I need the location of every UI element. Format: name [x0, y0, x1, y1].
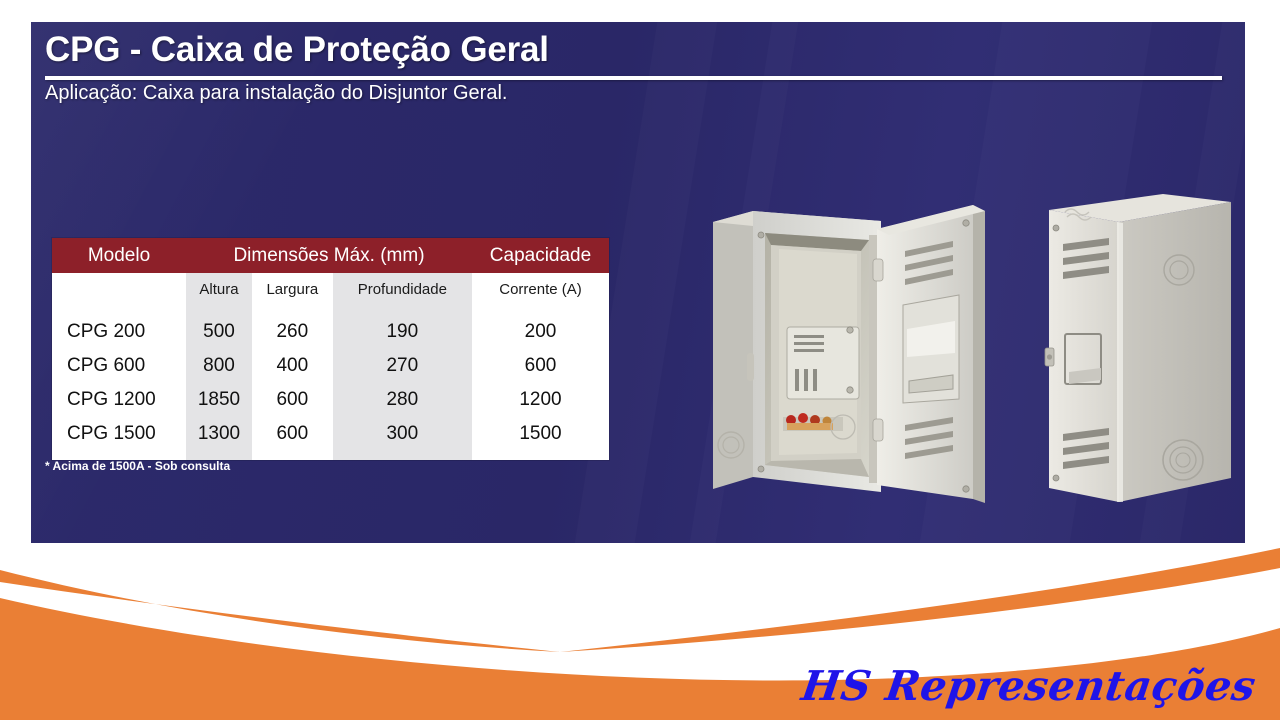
cell-profundidade: 270 [333, 349, 472, 383]
table-group-header-row: Modelo Dimensões Máx. (mm) Capacidade [52, 238, 609, 273]
header-modelo: Modelo [52, 238, 186, 273]
cell-corrente: 200 [472, 315, 609, 349]
cell-largura: 400 [252, 349, 333, 383]
cell-largura: 260 [252, 315, 333, 349]
cell-altura: 1300 [186, 417, 252, 451]
table-spacer-row [52, 307, 609, 315]
subheader-profundidade: Profundidade [333, 273, 472, 307]
table-row: CPG 1500 1300 600 300 1500 [52, 417, 609, 451]
header-dimensoes: Dimensões Máx. (mm) [186, 238, 472, 273]
header-capacidade: Capacidade [472, 238, 609, 273]
cell-largura: 600 [252, 417, 333, 451]
subheader-altura: Altura [186, 273, 252, 307]
cell-modelo: CPG 1500 [52, 417, 186, 451]
cell-altura: 800 [186, 349, 252, 383]
cell-profundidade: 280 [333, 383, 472, 417]
table-row: CPG 200 500 260 190 200 [52, 315, 609, 349]
cell-profundidade: 190 [333, 315, 472, 349]
cell-corrente: 600 [472, 349, 609, 383]
cell-modelo: CPG 200 [52, 315, 186, 349]
cell-modelo: CPG 600 [52, 349, 186, 383]
table-sub-header-row: Altura Largura Profundidade Corrente (A) [52, 273, 609, 307]
table-row: CPG 600 800 400 270 600 [52, 349, 609, 383]
specifications-table: Modelo Dimensões Máx. (mm) Capacidade Al… [52, 238, 609, 460]
cell-corrente: 1200 [472, 383, 609, 417]
cell-corrente: 1500 [472, 417, 609, 451]
subheader-largura: Largura [252, 273, 333, 307]
table-body: CPG 200 500 260 190 200 CPG 600 800 400 … [52, 315, 609, 460]
page-title: CPG - Caixa de Proteção Geral [45, 30, 549, 70]
subheader-corrente: Corrente (A) [472, 273, 609, 307]
page-subtitle: Aplicação: Caixa para instalação do Disj… [45, 82, 507, 105]
subheader-blank [52, 273, 186, 307]
cell-altura: 1850 [186, 383, 252, 417]
slide-root: CPG - Caixa de Proteção Geral Aplicação:… [0, 0, 1280, 720]
product-photo-open-box [691, 177, 1001, 522]
content-panel: CPG - Caixa de Proteção Geral Aplicação:… [31, 22, 1245, 543]
cell-profundidade: 300 [333, 417, 472, 451]
table-head: Modelo Dimensões Máx. (mm) Capacidade Al… [52, 238, 609, 315]
cell-altura: 500 [186, 315, 252, 349]
table-footnote: * Acima de 1500A - Sob consulta [45, 459, 230, 473]
product-photo-closed-box [1031, 172, 1245, 522]
cell-largura: 600 [252, 383, 333, 417]
title-underline [45, 76, 1222, 80]
brand-logo: HS Representações [799, 662, 1259, 710]
cell-modelo: CPG 1200 [52, 383, 186, 417]
table-row: CPG 1200 1850 600 280 1200 [52, 383, 609, 417]
